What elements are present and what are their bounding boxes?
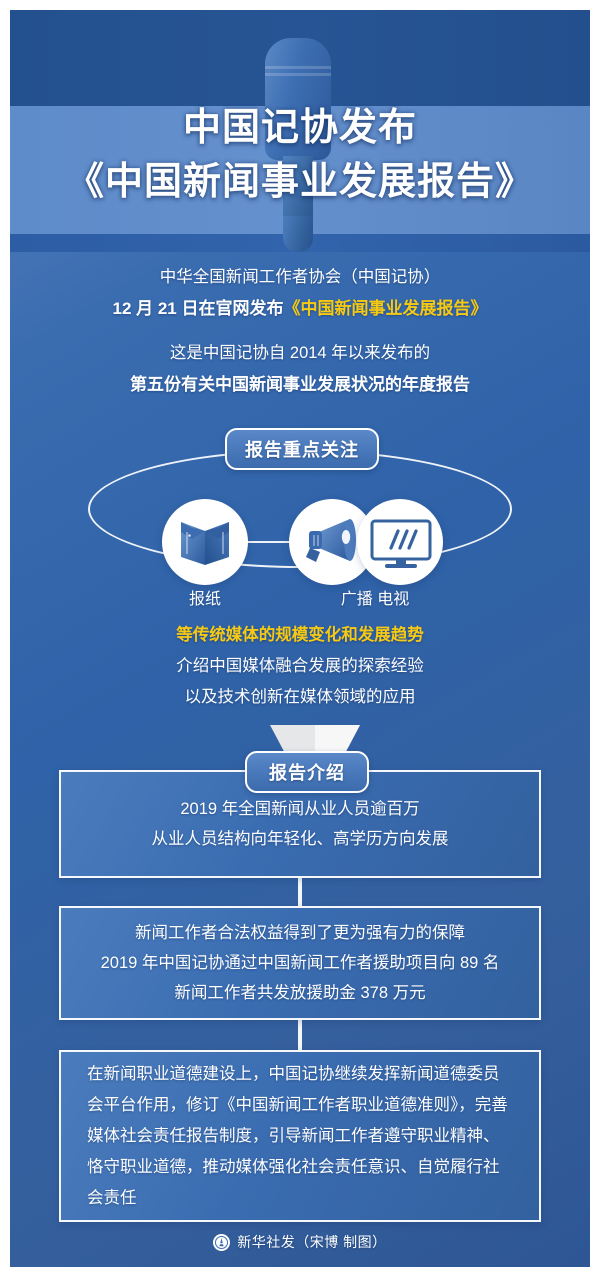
monitor-icon: [357, 499, 443, 585]
xinhua-logo-icon: [213, 1234, 230, 1251]
focus-tail-text: 等传统媒体的规模变化和发展趋势 介绍中国媒体融合发展的探索经验 以及技术创新在媒…: [10, 620, 590, 713]
title-line-2: 《中国新闻事业发展报告》: [10, 154, 590, 210]
focus-tail-line-3: 以及技术创新在媒体领域的应用: [10, 682, 590, 713]
footer-credit: 新华社发（宋博 制图）: [10, 1232, 590, 1252]
intro-line-1: 中华全国新闻工作者协会（中国记协）: [10, 262, 590, 293]
report-card-2-line-3: 新闻工作者共发放援助金 378 万元: [101, 978, 500, 1008]
intro-line-4: 第五份有关中国新闻事业发展状况的年度报告: [10, 369, 590, 400]
report-card-2-line-1: 新闻工作者合法权益得到了更为强有力的保障: [101, 918, 500, 948]
intro-line-2: 12 月 21 日在官网发布《中国新闻事业发展报告》: [10, 293, 590, 324]
book-icon: [162, 499, 248, 585]
card-connector-2: [298, 1018, 302, 1052]
infographic-poster: 中国记协发布 《中国新闻事业发展报告》 中华全国新闻工作者协会（中国记协） 12…: [10, 10, 590, 1267]
intro-line-2-highlight: 《中国新闻事业发展报告》: [284, 299, 488, 318]
focus-badge: 报告重点关注: [225, 428, 379, 470]
card-connector-1: [298, 876, 302, 908]
header-banner: 中国记协发布 《中国新闻事业发展报告》: [10, 10, 590, 252]
report-card-3-paragraph: 在新闻职业道德建设上，中国记协继续发挥新闻道德委员会平台作用，修订《中国新闻工作…: [87, 1059, 513, 1214]
focus-tail-line-2: 介绍中国媒体融合发展的探索经验: [10, 651, 590, 682]
report-card-3: 在新闻职业道德建设上，中国记协继续发挥新闻道德委员会平台作用，修订《中国新闻工作…: [59, 1050, 541, 1222]
report-intro-badge: 报告介绍: [245, 751, 369, 793]
intro-text-block: 中华全国新闻工作者协会（中国记协） 12 月 21 日在官网发布《中国新闻事业发…: [10, 262, 590, 400]
page-title: 中国记协发布 《中国新闻事业发展报告》: [10, 102, 590, 210]
icon-label-newspaper: 报纸: [155, 585, 255, 609]
report-card-2-line-2: 2019 年中国记协通过中国新闻工作者援助项目向 89 名: [101, 948, 500, 978]
report-card-1-line-2: 从业人员结构向年轻化、高学历方向发展: [152, 824, 449, 854]
intro-line-3: 这是中国记协自 2014 年以来发布的: [10, 338, 590, 369]
footer-credit-text: 新华社发（宋博 制图）: [237, 1232, 386, 1252]
intro-spacer: [10, 324, 590, 338]
report-card-2: 新闻工作者合法权益得到了更为强有力的保障 2019 年中国记协通过中国新闻工作者…: [59, 906, 541, 1020]
icon-label-broadcast-tv: 广播 电视: [300, 585, 450, 609]
focus-tail-highlight: 等传统媒体的规模变化和发展趋势: [10, 620, 590, 651]
title-line-1: 中国记协发布: [10, 102, 590, 154]
report-card-1-line-1: 2019 年全国新闻从业人员逾百万: [152, 794, 449, 824]
intro-line-2-prefix: 12 月 21 日在官网发布: [113, 299, 284, 318]
